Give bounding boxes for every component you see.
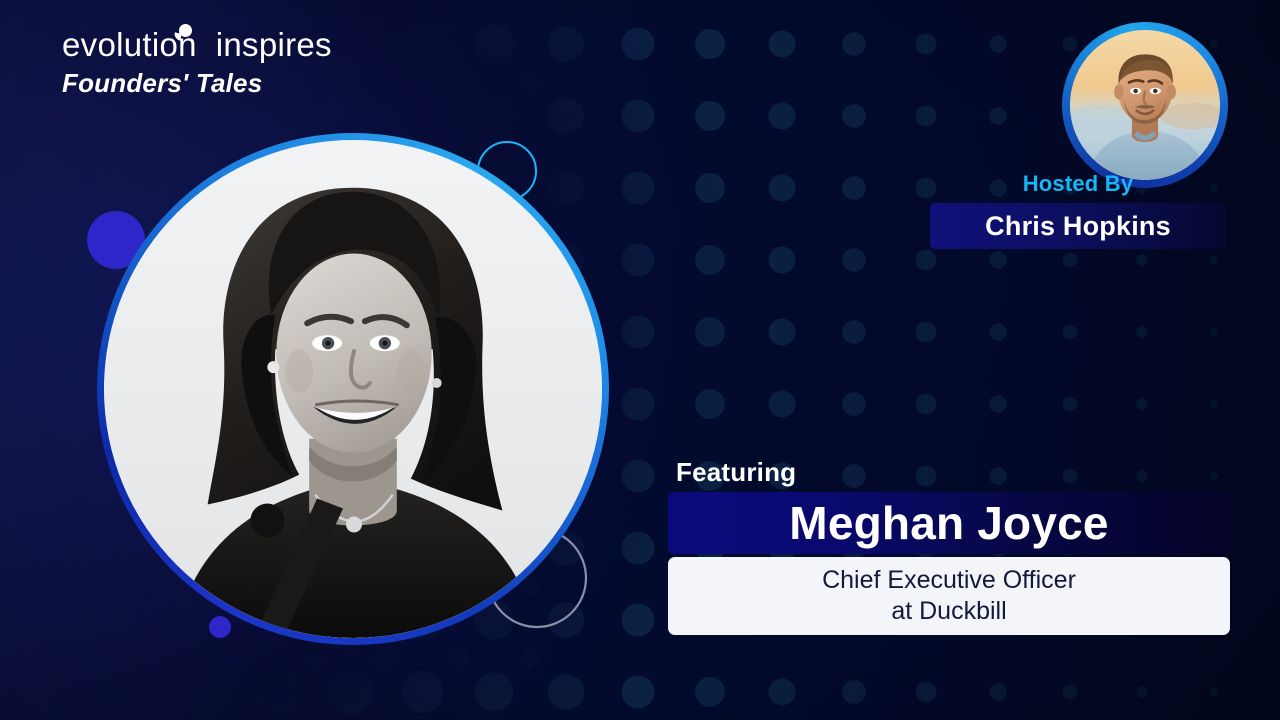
brand-series-title: Founders' Tales: [62, 70, 332, 96]
featuring-label: Featuring: [676, 458, 1230, 487]
guest-photo: [104, 140, 602, 638]
featuring-block: Featuring Meghan Joyce Chief Executive O…: [668, 458, 1230, 635]
guest-portrait-illustration: [104, 140, 602, 638]
hosted-by-block: Hosted By Chris Hopkins: [930, 172, 1226, 249]
guest-role-card: Chief Executive Officer at Duckbill: [668, 557, 1230, 635]
banner-stage: evolution inspires Founders' Tales: [0, 0, 1280, 720]
brand-accent-dot-icon: [179, 24, 192, 37]
brand-word-evolution: evolution: [62, 26, 197, 63]
guest-role-company: at Duckbill: [891, 596, 1006, 627]
host-name: Chris Hopkins: [985, 211, 1171, 242]
brand-logo: evolution inspires Founders' Tales: [62, 28, 332, 96]
decor-indigo-blob-small: [209, 616, 231, 638]
guest-role-title: Chief Executive Officer: [822, 565, 1076, 596]
guest-name-bar: Meghan Joyce: [668, 492, 1230, 554]
host-portrait-illustration: [1070, 30, 1220, 180]
guest-name: Meghan Joyce: [789, 500, 1108, 546]
host-name-bar: Chris Hopkins: [930, 203, 1226, 249]
guest-photo-ring: [97, 133, 609, 645]
host-avatar-ring: [1062, 22, 1228, 188]
host-avatar: [1070, 30, 1220, 180]
brand-logo-line1: evolution inspires: [62, 28, 332, 61]
brand-word-inspires: inspires: [216, 26, 332, 63]
hosted-by-label: Hosted By: [930, 172, 1226, 196]
